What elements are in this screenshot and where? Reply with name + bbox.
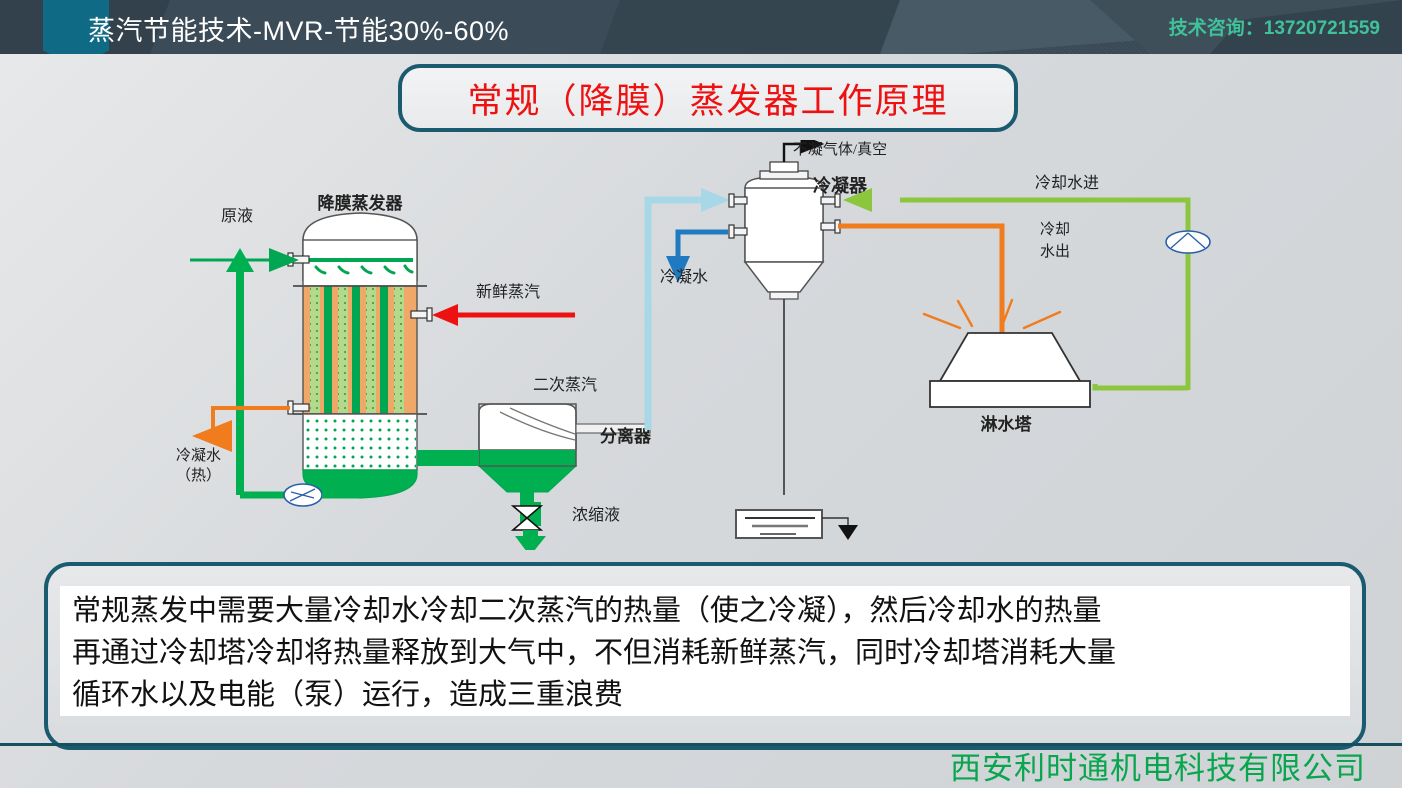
falling-film-evaporator: 降膜蒸发器 [288,193,432,498]
label-cooling-water-in: 冷却水进 [1035,174,1099,192]
label-feed: 原液 [221,207,253,225]
label-fresh-steam: 新鲜蒸汽 [476,283,540,301]
contact-phone: 技术咨询：13720721559 [1169,13,1380,40]
cooling-pump-icon [1166,231,1210,253]
label-hot-condensate-2: （热） [176,467,221,484]
condenser-vessel: 冷凝器 [729,162,868,299]
company-name: 西安利时通机电科技有限公司 [950,743,1366,788]
explanation-line-2: 再通过冷却塔冷却将热量释放到大气中，不但消耗新鲜蒸汽，同时冷却塔消耗大量 [72,632,1340,674]
label-cooling-tower: 淋水塔 [981,414,1033,434]
cooling-tower: 淋水塔 [924,300,1090,434]
page-title: 蒸汽节能技术-MVR-节能30%-60% [88,9,509,48]
label-condenser: 冷凝器 [813,175,868,196]
page-header: 蒸汽节能技术-MVR-节能30%-60% 技术咨询：13720721559 [0,0,1402,54]
barometric-leg [736,299,858,540]
label-cooling-water-out: 冷却 [1040,221,1070,238]
label-condensate: 冷凝水 [660,268,708,286]
noncondensable-vent-line: 不凝气体/真空 [784,140,887,162]
fresh-steam-line: 新鲜蒸汽 [432,283,575,326]
slide-title-text: 常规（降膜）蒸发器工作原理 [467,73,948,124]
heat-rays-icon [924,300,1060,328]
process-flow-diagram: 降膜蒸发器 原液 冷凝水 （热） 新鲜蒸汽 [0,140,1402,550]
explanation-line-1: 常规蒸发中需要大量冷却水冷却二次蒸汽的热量（使之冷凝），然后冷却水的热量 [72,590,1340,632]
explanation-line-3: 循环水以及电能（泵）运行，造成三重浪费 [72,674,1340,716]
label-concentrate: 浓缩液 [572,506,620,524]
label-noncondensable: 不凝气体/真空 [793,140,887,158]
explanation-text-panel: 常规蒸发中需要大量冷却水冷却二次蒸汽的热量（使之冷凝），然后冷却水的热量 再通过… [60,586,1350,716]
label-secondary-vapor: 二次蒸汽 [533,376,597,394]
separator-vessel: 分离器 浓缩液 [417,404,652,550]
secondary-vapor-line: 二次蒸汽 [533,188,730,430]
hot-condensate-line: 冷凝水 （热） [176,408,290,484]
label-evaporator: 降膜蒸发器 [318,193,404,213]
feed-line: 原液 [190,207,296,260]
label-hot-condensate: 冷凝水 [176,447,221,464]
slide-title-box: 常规（降膜）蒸发器工作原理 [398,64,1018,132]
label-cooling-water-out-2: 水出 [1040,243,1070,260]
condensate-out-line: 冷凝水 [660,232,728,286]
label-separator: 分离器 [600,426,652,446]
explanation-box: 常规蒸发中需要大量冷却水冷却二次蒸汽的热量（使之冷凝），然后冷却水的热量 再通过… [44,562,1366,750]
